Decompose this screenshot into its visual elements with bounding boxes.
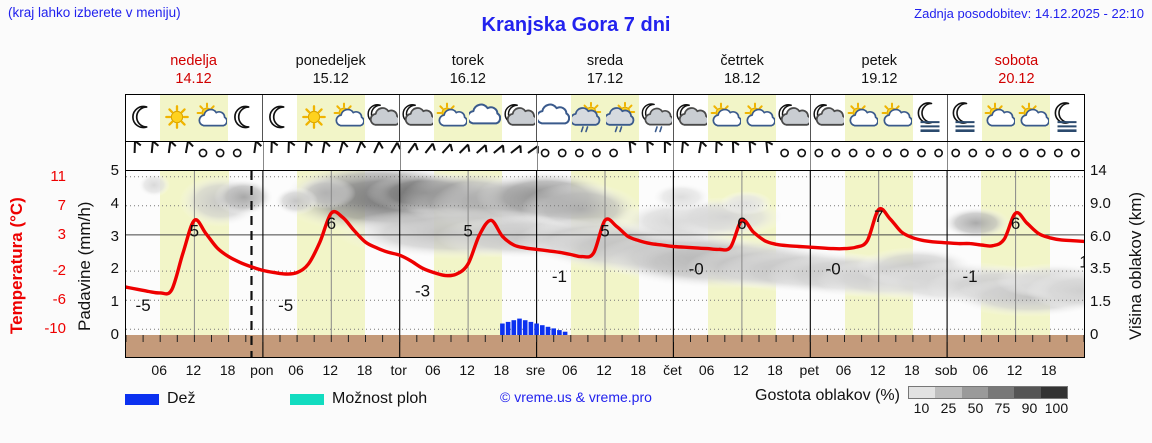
sun-cloud-icon (742, 95, 776, 141)
temperature-tick: -10 (32, 320, 66, 337)
time-tick: 12 (870, 362, 886, 378)
day-name: četrtek (674, 52, 811, 70)
moon-icon (228, 95, 262, 141)
time-tick: 18 (904, 362, 920, 378)
temperature-axis-label: Temperatura (°C) (4, 176, 30, 356)
day-date: 18.12 (674, 70, 811, 88)
day-name: ponedeljek (262, 52, 399, 70)
time-tick: 06 (288, 362, 304, 378)
precipitation-tick: 0 (97, 326, 119, 343)
svg-text:5: 5 (463, 221, 472, 240)
day-header-band: nedelja14.12ponedeljek15.12torek16.12sre… (125, 52, 1085, 92)
day-date: 20.12 (948, 70, 1085, 88)
svg-text:-0: -0 (826, 260, 841, 279)
sun-cloud-rain-icon (605, 95, 639, 141)
precipitation-axis-label: Padavine (mm/h) (72, 176, 98, 356)
wind-day-divider (263, 142, 264, 170)
time-tick: 18 (494, 362, 510, 378)
weather-icon-strip (125, 94, 1085, 142)
day-header-nedelja: nedelja14.12 (125, 52, 262, 92)
time-tick: sob (935, 362, 958, 378)
day-header-ponedeljek: ponedeljek15.12 (262, 52, 399, 92)
cloud-density-tick: 100 (1043, 400, 1070, 416)
day-date: 15.12 (262, 70, 399, 88)
icon-day-group (400, 95, 537, 141)
icon-day-group (811, 95, 948, 141)
cloud-density-tick: 25 (935, 400, 962, 416)
cloud-density-scale: 1025507590100 (908, 386, 1070, 416)
temperature-tick: -6 (32, 291, 66, 308)
icon-day-group (263, 95, 400, 141)
moon-cloud-icon (776, 95, 810, 141)
sun-cloud-icon (194, 95, 228, 141)
legend-label-showers: Možnost ploh (332, 390, 427, 408)
showers-color-swatch (290, 394, 324, 405)
cloud-height-tick: 1.5 (1090, 293, 1111, 310)
precipitation-tick: 3 (97, 228, 119, 245)
time-tick: 12 (733, 362, 749, 378)
day-date: 14.12 (125, 70, 262, 88)
sun-cloud-icon (331, 95, 365, 141)
sun-icon (297, 95, 331, 141)
moon-fog-icon (948, 95, 982, 141)
sun-cloud-icon (708, 95, 742, 141)
copyright-text[interactable]: © vreme.us & vreme.pro (500, 389, 652, 405)
sun-cloud-icon (982, 95, 1016, 141)
day-header-torek: torek16.12 (399, 52, 536, 92)
icon-day-group (948, 95, 1084, 141)
day-name: torek (399, 52, 536, 70)
moon-cloud-icon (502, 95, 536, 141)
moon-cloud-rain-icon (639, 95, 673, 141)
day-name: sreda (536, 52, 673, 70)
time-tick: 06 (562, 362, 578, 378)
svg-text:1: 1 (1079, 252, 1084, 271)
day-name: petek (811, 52, 948, 70)
time-tick: 18 (220, 362, 236, 378)
time-tick: 18 (1041, 362, 1057, 378)
svg-text:6: 6 (737, 214, 746, 233)
time-tick: 12 (186, 362, 202, 378)
last-updated-text: Zadnja posodobitev: 14.12.2025 - 22:10 (914, 6, 1144, 21)
day-date: 17.12 (536, 70, 673, 88)
sun-cloud-icon (1016, 95, 1050, 141)
cloud-icon (468, 95, 502, 141)
sun-icon (160, 95, 194, 141)
cloud-density-swatch (1041, 387, 1067, 398)
cloud-density-swatch (962, 387, 988, 398)
time-tick: 18 (357, 362, 373, 378)
cloud-density-legend: Gostota oblakov (%) 1025507590100 (755, 386, 1070, 416)
day-header-četrtek: četrtek18.12 (674, 52, 811, 92)
svg-text:-1: -1 (552, 267, 567, 286)
precipitation-axis-ticks: 543210 (98, 170, 122, 358)
cloud-density-label: Gostota oblakov (%) (755, 386, 900, 405)
wind-barb-strip (125, 142, 1085, 170)
time-tick: 18 (767, 362, 783, 378)
moon-cloud-icon (811, 95, 845, 141)
moon-fog-icon (1050, 95, 1084, 141)
svg-text:6: 6 (1011, 214, 1020, 233)
cloud-height-tick: 6.0 (1090, 228, 1111, 245)
icon-day-group (126, 95, 263, 141)
cloud-density-swatch (1014, 387, 1040, 398)
svg-text:-3: -3 (415, 281, 430, 300)
precipitation-tick: 2 (97, 260, 119, 277)
wind-day-divider (947, 142, 948, 170)
time-tick: 06 (973, 362, 989, 378)
moon-icon (263, 95, 297, 141)
cloud-density-tick: 90 (1016, 400, 1043, 416)
time-tick: pet (800, 362, 819, 378)
wind-day-divider (400, 142, 401, 170)
moon-cloud-icon (674, 95, 708, 141)
time-tick: sre (526, 362, 545, 378)
time-tick: 06 (836, 362, 852, 378)
time-tick: 18 (630, 362, 646, 378)
cloud-density-colorbar (908, 386, 1068, 399)
sun-cloud-icon (845, 95, 879, 141)
moon-icon (126, 95, 160, 141)
cloud-icon (537, 95, 571, 141)
temperature-tick: 11 (32, 168, 66, 185)
legend-item-rain: Dež (125, 390, 195, 408)
svg-text:7: 7 (874, 207, 883, 226)
day-header-sreda: sreda17.12 (536, 52, 673, 92)
precipitation-tick: 5 (97, 162, 119, 179)
cloud-height-axis-label: Višina oblakov (km) (1122, 176, 1150, 356)
svg-text:5: 5 (190, 221, 199, 240)
time-tick: 12 (459, 362, 475, 378)
wind-day-divider (537, 142, 538, 170)
wind-day-divider (673, 142, 674, 170)
cloud-height-tick: 3.5 (1090, 260, 1111, 277)
cloud-density-tick: 10 (908, 400, 935, 416)
sun-cloud-icon (879, 95, 913, 141)
cloud-density-swatch (909, 387, 935, 398)
rain-color-swatch (125, 394, 159, 405)
time-tick: pon (250, 362, 273, 378)
svg-text:-1: -1 (962, 267, 977, 286)
moon-cloud-icon (400, 95, 434, 141)
time-axis-ticks: 061218pon061218tor061218sre061218čet0612… (125, 360, 1085, 380)
time-tick: 06 (151, 362, 167, 378)
day-name: sobota (948, 52, 1085, 70)
svg-text:-5: -5 (278, 296, 293, 315)
svg-text:5: 5 (600, 221, 609, 240)
moon-fog-icon (913, 95, 947, 141)
cloud-density-tick-labels: 1025507590100 (908, 400, 1070, 416)
svg-text:-0: -0 (689, 260, 704, 279)
icon-day-group (537, 95, 674, 141)
temperature-tick: 3 (32, 226, 66, 243)
time-tick: tor (391, 362, 407, 378)
day-header-sobota: sobota20.12 (948, 52, 1085, 92)
moon-cloud-icon (365, 95, 399, 141)
icon-day-group (674, 95, 811, 141)
time-tick: 06 (699, 362, 715, 378)
day-date: 16.12 (399, 70, 536, 88)
precipitation-tick: 4 (97, 195, 119, 212)
cloud-density-swatch (988, 387, 1014, 398)
cloud-height-tick: 9.0 (1090, 195, 1111, 212)
precipitation-tick: 1 (97, 293, 119, 310)
wind-day-divider (810, 142, 811, 170)
sun-cloud-rain-icon (571, 95, 605, 141)
day-date: 19.12 (811, 70, 948, 88)
time-tick: 12 (322, 362, 338, 378)
svg-text:-5: -5 (136, 296, 151, 315)
cloud-density-tick: 50 (962, 400, 989, 416)
time-tick: 12 (596, 362, 612, 378)
cloud-height-tick: 14 (1090, 162, 1107, 179)
temperature-tick: 7 (32, 197, 66, 214)
sun-cloud-icon (434, 95, 468, 141)
svg-text:6: 6 (327, 214, 336, 233)
forecast-plot: 5-5-56-35-15-06-07-161 (125, 170, 1085, 358)
chart-legend: Dež Možnost ploh © vreme.us & vreme.pro … (125, 386, 1145, 420)
time-tick: 12 (1007, 362, 1023, 378)
cloud-density-tick: 75 (989, 400, 1016, 416)
day-name: nedelja (125, 52, 262, 70)
legend-item-showers: Možnost ploh (290, 390, 427, 408)
legend-label-rain: Dež (167, 390, 195, 408)
cloud-density-swatch (935, 387, 961, 398)
cloud-height-tick: 0 (1090, 326, 1098, 343)
time-tick: 06 (425, 362, 441, 378)
temperature-axis-ticks: 1173-2-6-10 (32, 170, 68, 358)
time-tick: čet (663, 362, 682, 378)
day-header-petek: petek19.12 (811, 52, 948, 92)
temperature-tick: -2 (32, 262, 66, 279)
